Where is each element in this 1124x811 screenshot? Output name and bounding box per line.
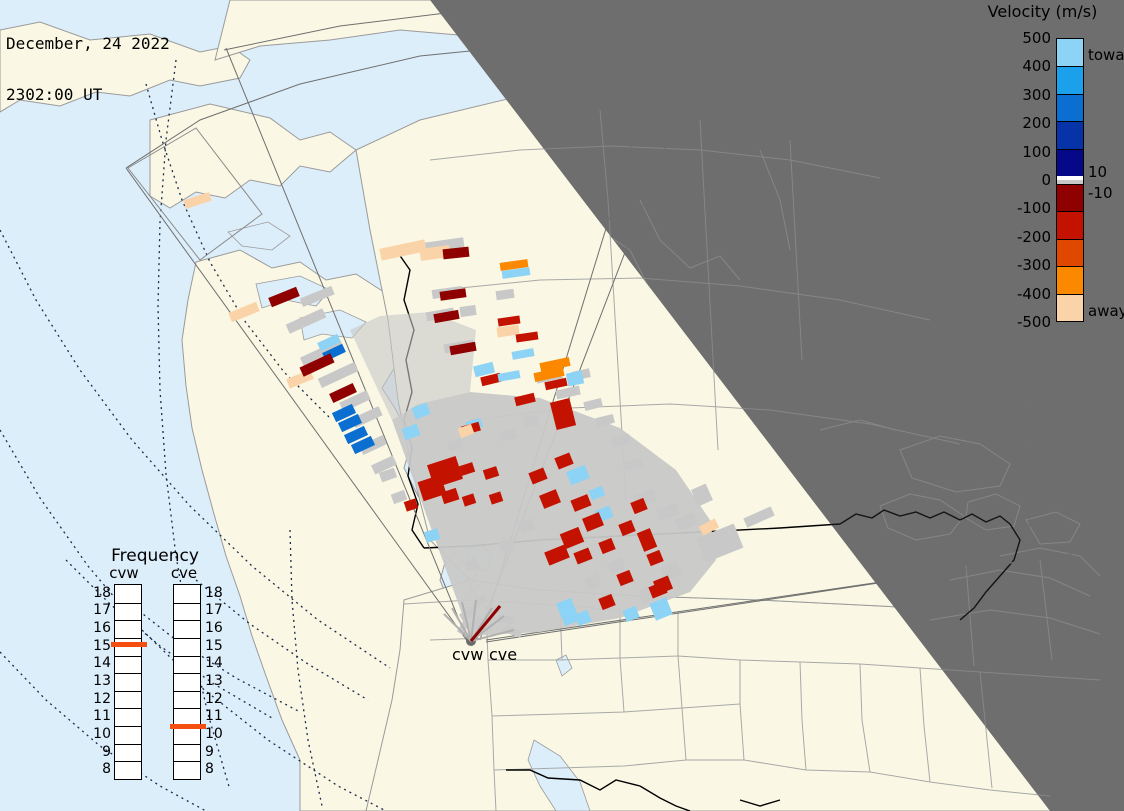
frequency-radar-name-cve: cve: [161, 564, 207, 582]
colorbar-threshold-neg: -10: [1088, 184, 1113, 202]
colorbar-segment: [1057, 266, 1083, 293]
colorbar-tick-200: 200: [975, 114, 1051, 132]
frequency-tick-cve-9: 9: [205, 744, 229, 760]
frequency-title: Frequency: [85, 546, 225, 566]
frequency-cell: [174, 585, 200, 603]
frequency-tick-cvw-13: 13: [87, 673, 111, 689]
title-time: 2302:00 UT: [6, 86, 170, 103]
frequency-cell: [115, 708, 141, 726]
colorbar-tick-neg100: -100: [975, 199, 1051, 217]
timestamp-title: December, 24 2022 2302:00 UT: [6, 1, 170, 137]
colorbar-tick-100: 100: [975, 143, 1051, 161]
frequency-cell: [115, 620, 141, 638]
colorbar-segment: [1057, 94, 1083, 121]
frequency-cell: [115, 673, 141, 691]
frequency-cell: [115, 744, 141, 762]
frequency-tick-cvw-9: 9: [87, 744, 111, 760]
frequency-tick-cve-16: 16: [205, 620, 229, 636]
colorbar-segment: [1057, 149, 1083, 176]
site-label-cve: cve: [489, 645, 517, 664]
colorbar-tick-neg300: -300: [975, 256, 1051, 274]
velocity-colorbar: Velocity (m/s) 5004003002001000-100-200-…: [975, 0, 1124, 345]
frequency-cell: [174, 761, 200, 779]
frequency-tick-cve-8: 8: [205, 761, 229, 777]
frequency-bar-cvw[interactable]: [114, 584, 142, 780]
colorbar-segment: [1057, 211, 1083, 238]
frequency-tick-cve-13: 13: [205, 673, 229, 689]
frequency-tick-cve-14: 14: [205, 655, 229, 671]
frequency-tick-cve-12: 12: [205, 691, 229, 707]
frequency-cell: [115, 585, 141, 603]
frequency-tick-cvw-15: 15: [87, 638, 111, 654]
frequency-tick-cvw-8: 8: [87, 761, 111, 777]
colorbar-segment: [1057, 184, 1083, 211]
colorbar-tick-300: 300: [975, 86, 1051, 104]
frequency-tick-cvw-12: 12: [87, 691, 111, 707]
colorbar-tick-neg500: -500: [975, 313, 1051, 331]
frequency-cell: [174, 744, 200, 762]
frequency-marker-cve: [170, 724, 206, 729]
site-label-cvw: cvw: [452, 645, 483, 664]
frequency-cell: [115, 603, 141, 621]
frequency-cell: [174, 691, 200, 709]
frequency-cell: [174, 638, 200, 656]
frequency-cell: [174, 673, 200, 691]
frequency-tick-cve-17: 17: [205, 602, 229, 618]
frequency-tick-cvw-16: 16: [87, 620, 111, 636]
frequency-cell: [174, 656, 200, 674]
colorbar-tick-0: 0: [975, 171, 1051, 189]
colorbar-title: Velocity (m/s): [975, 2, 1110, 21]
frequency-cell: [115, 726, 141, 744]
colorbar-segment: [1057, 39, 1083, 66]
frequency-radar-name-cvw: cvw: [101, 564, 147, 582]
colorbar-segment: [1057, 294, 1083, 321]
frequency-cell: [174, 726, 200, 744]
frequency-marker-cvw: [111, 642, 147, 647]
frequency-tick-cvw-10: 10: [87, 726, 111, 742]
colorbar-tick-500: 500: [975, 29, 1051, 47]
frequency-cell: [115, 691, 141, 709]
frequency-tick-cve-15: 15: [205, 638, 229, 654]
colorbar-segment: [1057, 121, 1083, 148]
colorbar-away-label: away: [1088, 302, 1124, 320]
frequency-tick-cvw-18: 18: [87, 585, 111, 601]
colorbar-toward-label: toward: [1088, 46, 1124, 64]
colorbar-tick-400: 400: [975, 57, 1051, 75]
frequency-tick-cve-10: 10: [205, 726, 229, 742]
colorbar-segment: [1057, 239, 1083, 266]
frequency-cell: [174, 603, 200, 621]
colorbar-threshold-pos: 10: [1088, 163, 1107, 181]
frequency-cell: [115, 761, 141, 779]
colorbar-segment: [1057, 66, 1083, 93]
frequency-tick-cvw-17: 17: [87, 602, 111, 618]
frequency-legend: Frequency cvw18171615141312111098cve1817…: [85, 546, 250, 791]
frequency-tick-cve-11: 11: [205, 708, 229, 724]
frequency-cell: [174, 620, 200, 638]
frequency-tick-cvw-11: 11: [87, 708, 111, 724]
radar-map-screenshot: December, 24 2022 2302:00 UT Velocity (m…: [0, 0, 1124, 811]
frequency-cell: [115, 656, 141, 674]
colorbar-tick-neg400: -400: [975, 285, 1051, 303]
frequency-tick-cvw-14: 14: [87, 655, 111, 671]
colorbar-gradient[interactable]: [1056, 38, 1084, 322]
frequency-bar-cve[interactable]: [173, 584, 201, 780]
colorbar-tick-neg200: -200: [975, 228, 1051, 246]
title-date: December, 24 2022: [6, 35, 170, 52]
frequency-tick-cve-18: 18: [205, 585, 229, 601]
